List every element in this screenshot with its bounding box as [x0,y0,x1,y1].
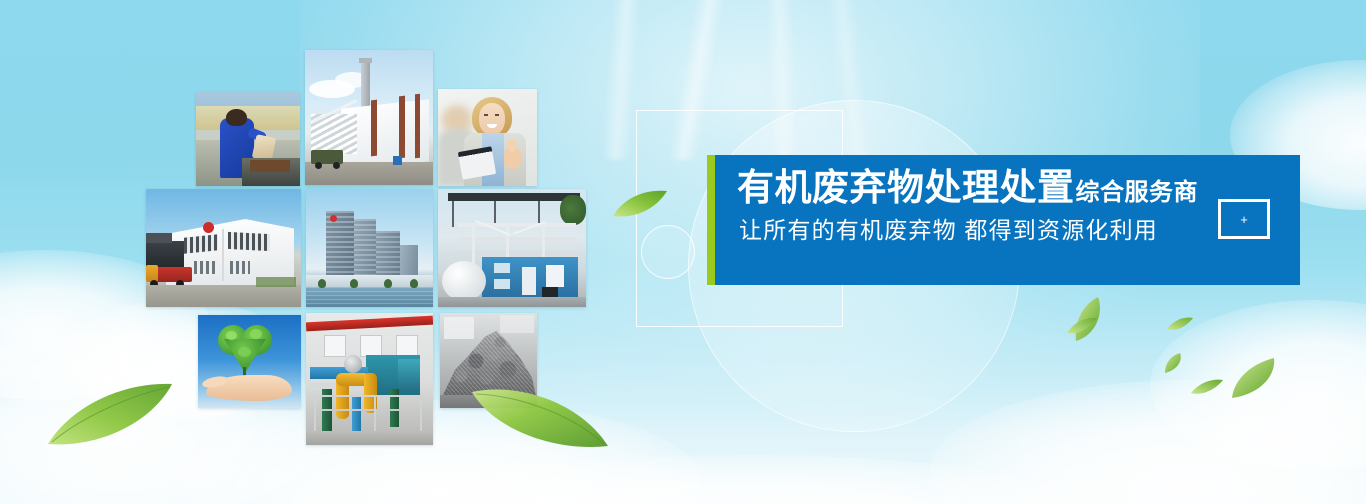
headline-suffix-text: 综合服务商 [1076,181,1199,205]
photo-indoor-processing-equipment[interactable] [306,313,433,445]
photo-businesswoman-thumbs-up[interactable] [438,89,537,186]
photo-image-businesswoman [438,89,537,186]
photo-image-worker [196,92,300,186]
photo-image-plant [438,189,586,307]
photo-image-leaf-heart [198,315,301,408]
photo-process-plant-piping[interactable] [438,189,586,307]
photo-image-equipment [306,313,433,445]
photo-worker-pouring-additive[interactable] [196,92,300,186]
photo-office-towers[interactable] [306,189,433,307]
photo-treatment-facility-stack[interactable] [305,50,433,185]
photo-image-workshop [146,189,301,307]
photo-hand-holding-leaf-heart[interactable] [198,315,301,408]
photo-image-residue [440,313,537,408]
page-title: 有机废弃物处理处置 综合服务商 [737,169,1200,206]
banner-text-group: 有机废弃物处理处置 综合服务商 让所有的有机废弃物 都得到资源化利用 [737,169,1200,242]
expand-plus-button[interactable]: + [1218,199,1270,239]
photo-image-facility [305,50,433,185]
page-subtitle: 让所有的有机废弃物 都得到资源化利用 [739,219,1200,242]
banner-green-accent [707,155,715,285]
headline-banner: 有机废弃物处理处置 综合服务商 让所有的有机废弃物 都得到资源化利用 [707,155,1300,285]
plus-icon: + [1240,213,1248,226]
photo-image-towers [306,189,433,307]
photo-factory-workshop-exterior[interactable] [146,189,301,307]
photo-treated-residue-pile[interactable] [440,313,537,408]
banner-stage: 有机废弃物处理处置 综合服务商 让所有的有机废弃物 都得到资源化利用 + [0,0,1366,504]
headline-main-text: 有机废弃物处理处置 [737,169,1075,206]
